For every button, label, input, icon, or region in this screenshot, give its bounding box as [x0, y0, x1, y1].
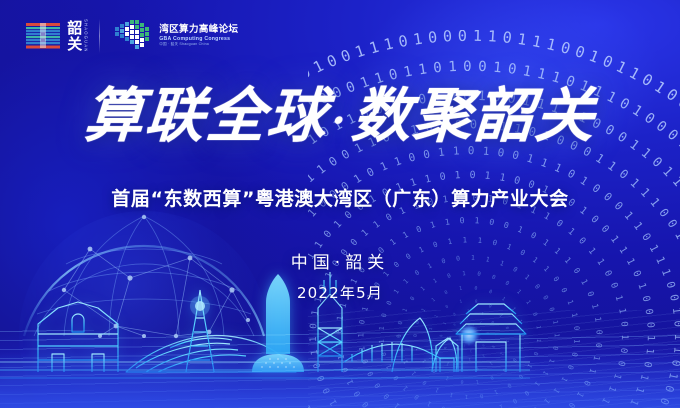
gba-title-cn: 湾区算力高峰论坛 [159, 25, 238, 35]
headline-separator: · [326, 97, 353, 144]
gba-subtitle: 中国 · 韶关 Shaoguan China [159, 43, 238, 47]
logo-bar: 韶关 SHAOGUAN [24, 17, 238, 55]
poster-headline: 算联全球·数聚韶关 [0, 86, 680, 145]
floor-light-streaks [0, 330, 680, 408]
gba-computing-congress-logo: 湾区算力高峰论坛 GBA Computing Congress 中国 · 韶关 … [111, 17, 238, 55]
event-date: 2022年5月 [0, 282, 680, 303]
headline-part-2: 数聚韶关 [350, 81, 599, 150]
shaoguan-building-mark [24, 20, 62, 52]
shaoguan-mark-label: 韶关 [67, 20, 81, 52]
logo-divider [99, 19, 100, 53]
poster-subtitle: 首届“东数西算”粤港澳大湾区（广东）算力产业大会 [0, 184, 680, 211]
poster-meta: 中国·韶关 2022年5月 [0, 248, 680, 303]
headline-part-1: 算联全球 [82, 81, 331, 150]
conference-poster: 0101100110100111010001101110010110100011… [0, 0, 680, 408]
gba-globe-mark [111, 17, 153, 55]
shaoguan-city-logo: 韶关 SHAOGUAN [24, 19, 88, 53]
event-location: 中国·韶关 [0, 248, 680, 273]
shaoguan-pinyin: SHAOGUAN [83, 19, 88, 53]
